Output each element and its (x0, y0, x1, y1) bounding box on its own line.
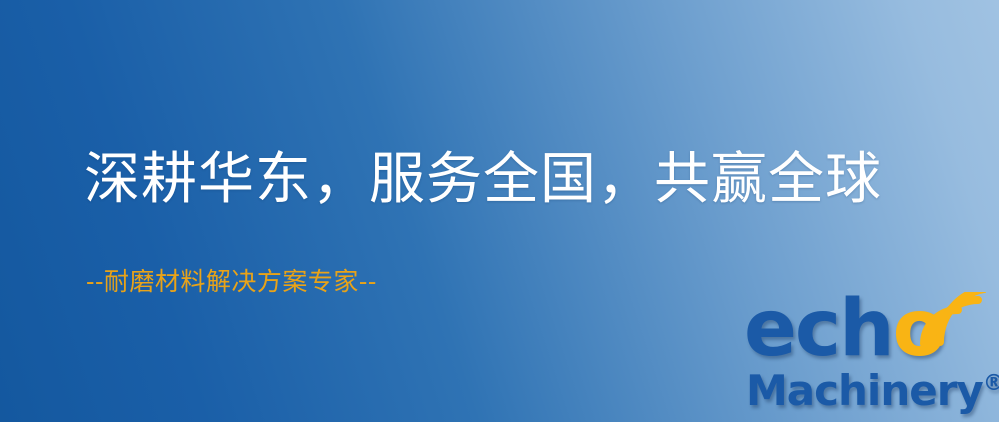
registered-trademark-icon: ® (983, 371, 999, 396)
logo-subtext: Machinery® (746, 362, 999, 413)
banner-headline: 深耕华东，服务全国，共赢全球 (84, 148, 882, 212)
logo-subtext-label: Machinery (746, 366, 983, 415)
promo-banner: 深耕华东，服务全国，共赢全球 --耐磨材料解决方案专家-- echo Machi… (0, 0, 999, 422)
logo-wordmark: echo (744, 290, 944, 368)
logo-wordmark-ech: ech (744, 284, 893, 374)
logo-wordmark-o: o (893, 284, 945, 374)
echo-machinery-logo[interactable]: echo Machinery® (744, 296, 996, 420)
banner-subtitle: --耐磨材料解决方案专家-- (86, 266, 377, 298)
